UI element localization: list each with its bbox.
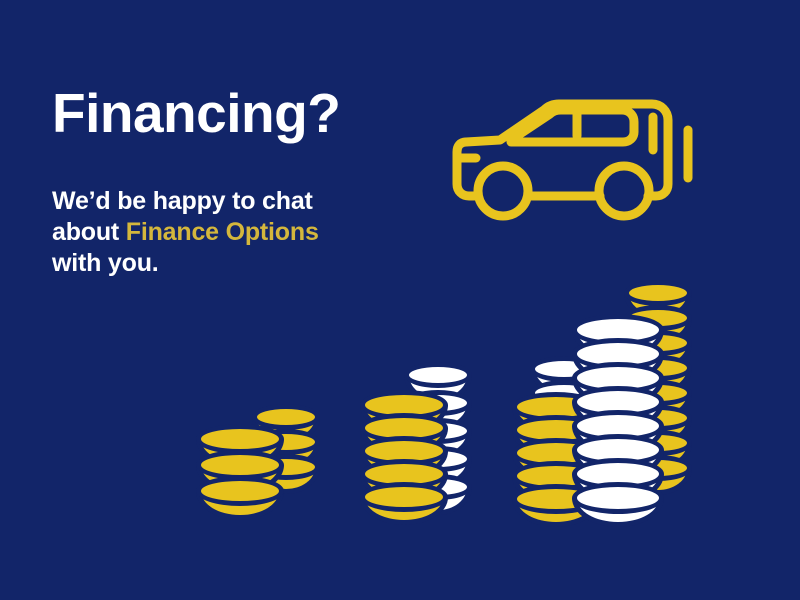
subcopy-line-1: We’d be happy to chat (52, 187, 313, 215)
car-icon (452, 78, 706, 228)
finance-options-highlight: Finance Options (126, 218, 319, 246)
subcopy-line-2-prefix: about (52, 218, 126, 246)
coin (624, 280, 692, 306)
coin (572, 482, 664, 514)
financing-slide: Financing? We’d be happy to chat about F… (0, 0, 800, 600)
subcopy-line-3: with you. (52, 249, 159, 277)
coin (404, 362, 472, 388)
subcopy-text: We’d be happy to chat about Finance Opti… (52, 186, 382, 279)
page-title: Financing? (52, 82, 340, 144)
coin (196, 476, 284, 506)
coin (360, 482, 448, 512)
